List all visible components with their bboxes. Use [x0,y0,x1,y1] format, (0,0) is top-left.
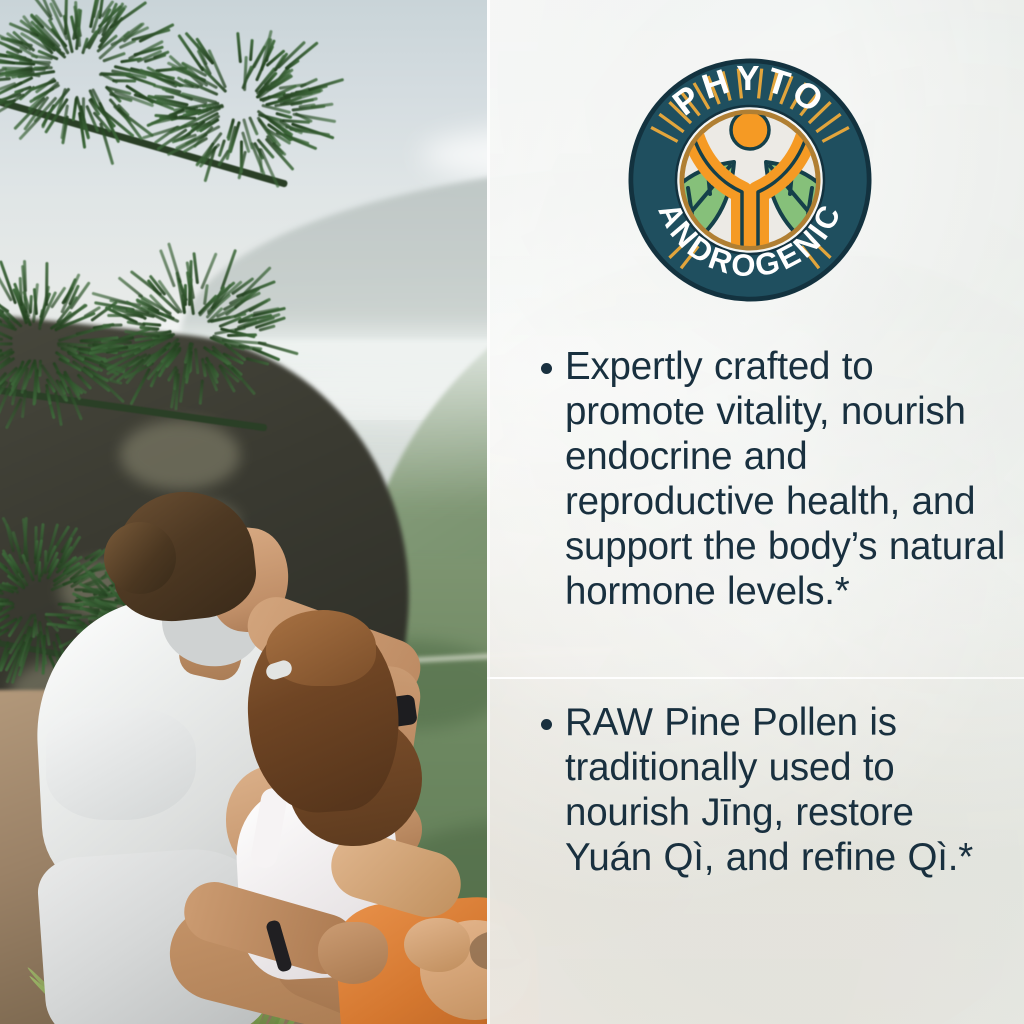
man-clasped-hand [318,922,388,984]
couple-figures [0,470,520,1024]
tradition-bullet-text: RAW Pine Pollen is traditionally used to… [565,700,1009,880]
pine-branch-middle [0,230,370,510]
bullet-marker-icon [541,363,552,374]
phyto-androgenic-seal-logo: PHYTO ANDROGENIC [618,56,882,304]
panel-left-edge [487,0,490,1024]
woman-hand [404,918,470,972]
bullet-marker-icon [541,719,552,730]
benefits-bullet-block: Expertly crafted to promote vitality, no… [541,344,1009,614]
man-sleeve [46,708,196,820]
tradition-bullet-block: RAW Pine Pollen is traditionally used to… [541,700,1009,880]
marketing-graphic: PHYTO ANDROGENIC Expertly crafted to pro… [0,0,1024,1024]
benefits-bullet-text: Expertly crafted to promote vitality, no… [565,344,1009,614]
section-divider [487,677,1024,679]
